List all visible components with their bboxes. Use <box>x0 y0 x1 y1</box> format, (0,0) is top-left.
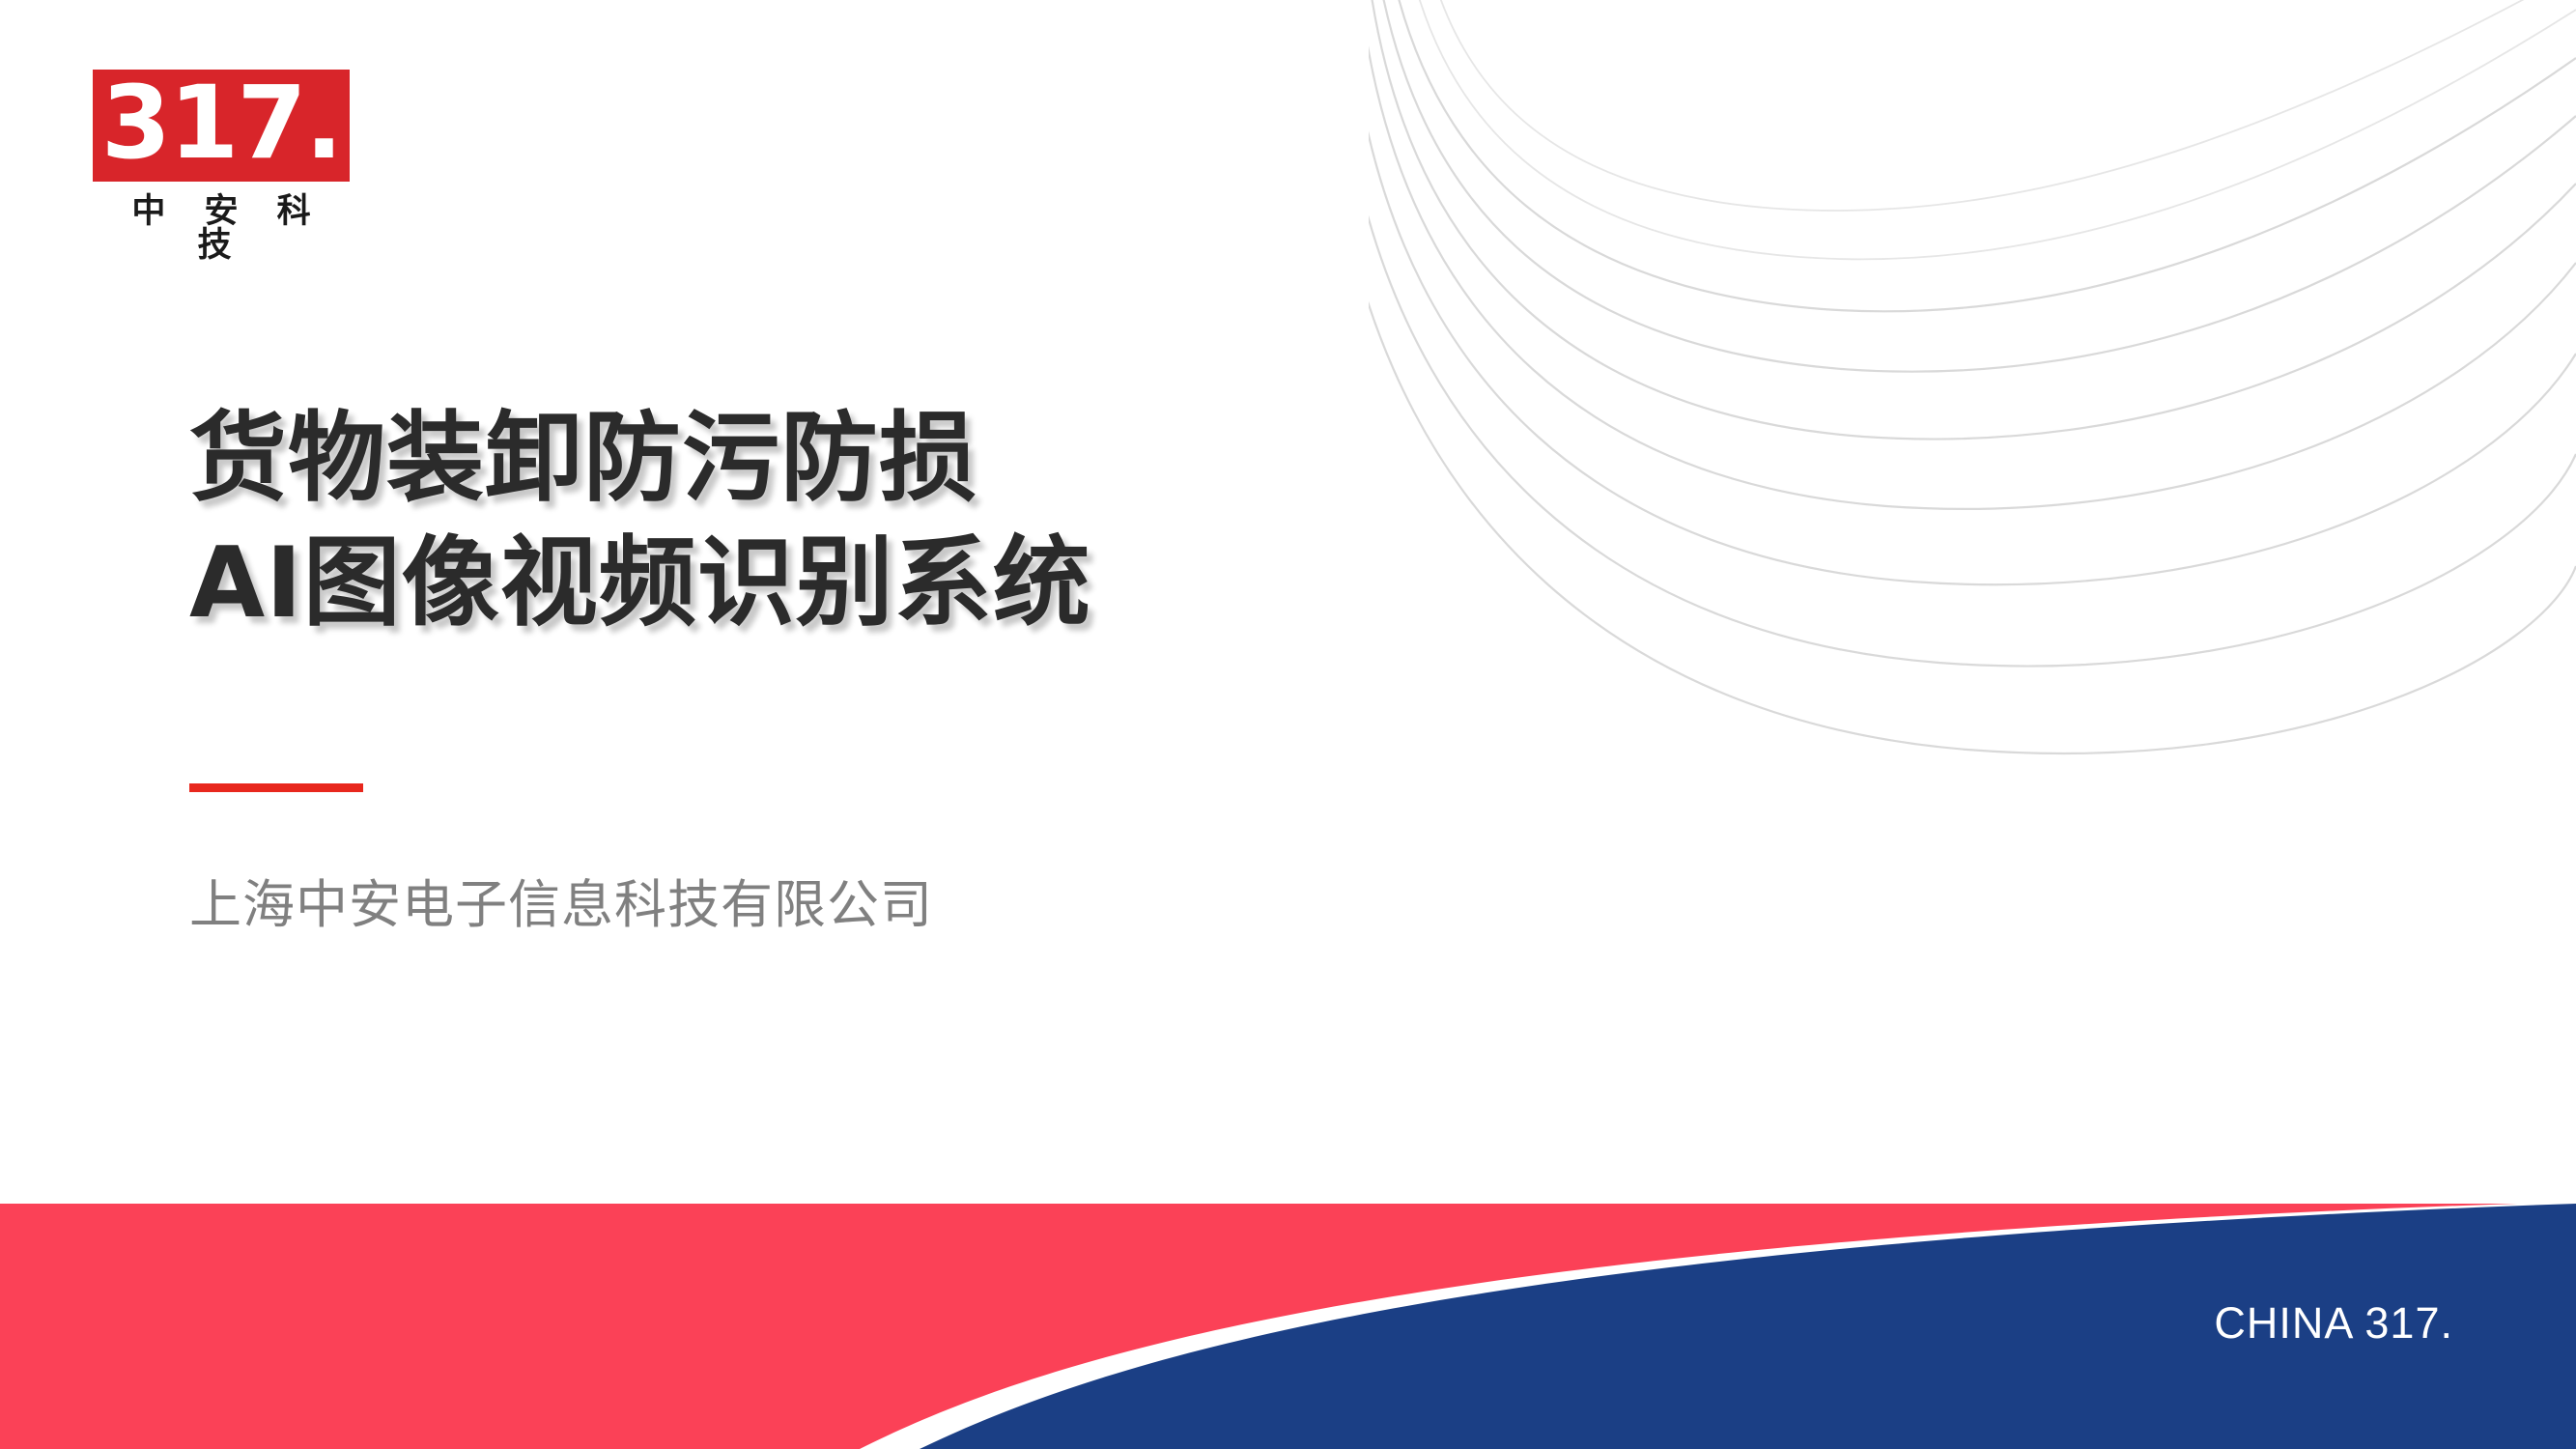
title-line-2: AI图像视频识别系统 <box>189 521 1542 645</box>
decorative-curves <box>1369 0 2576 850</box>
logo-mark-317: 317. <box>93 70 350 182</box>
logo-subtext: 中 安 科 技 <box>93 195 350 263</box>
title-line-1: 货物装卸防污防损 <box>189 396 1542 521</box>
page-title: 货物装卸防污防损 AI图像视频识别系统 <box>189 396 1542 646</box>
title-divider <box>189 783 363 792</box>
slide-canvas: 317. 中 安 科 技 货物装卸防污防损 AI图像视频识别系统 上海中安电子信… <box>0 0 2576 1449</box>
banner-brand-text: CHINA 317. <box>2214 1298 2453 1349</box>
banner-shapes <box>0 1202 2576 1449</box>
subtitle-company-name: 上海中安电子信息科技有限公司 <box>189 872 933 938</box>
bottom-banner: CHINA 317. <box>0 1202 2576 1449</box>
company-logo: 317. 中 安 科 技 <box>93 70 350 263</box>
logo-mark-text: 317. <box>101 72 342 173</box>
